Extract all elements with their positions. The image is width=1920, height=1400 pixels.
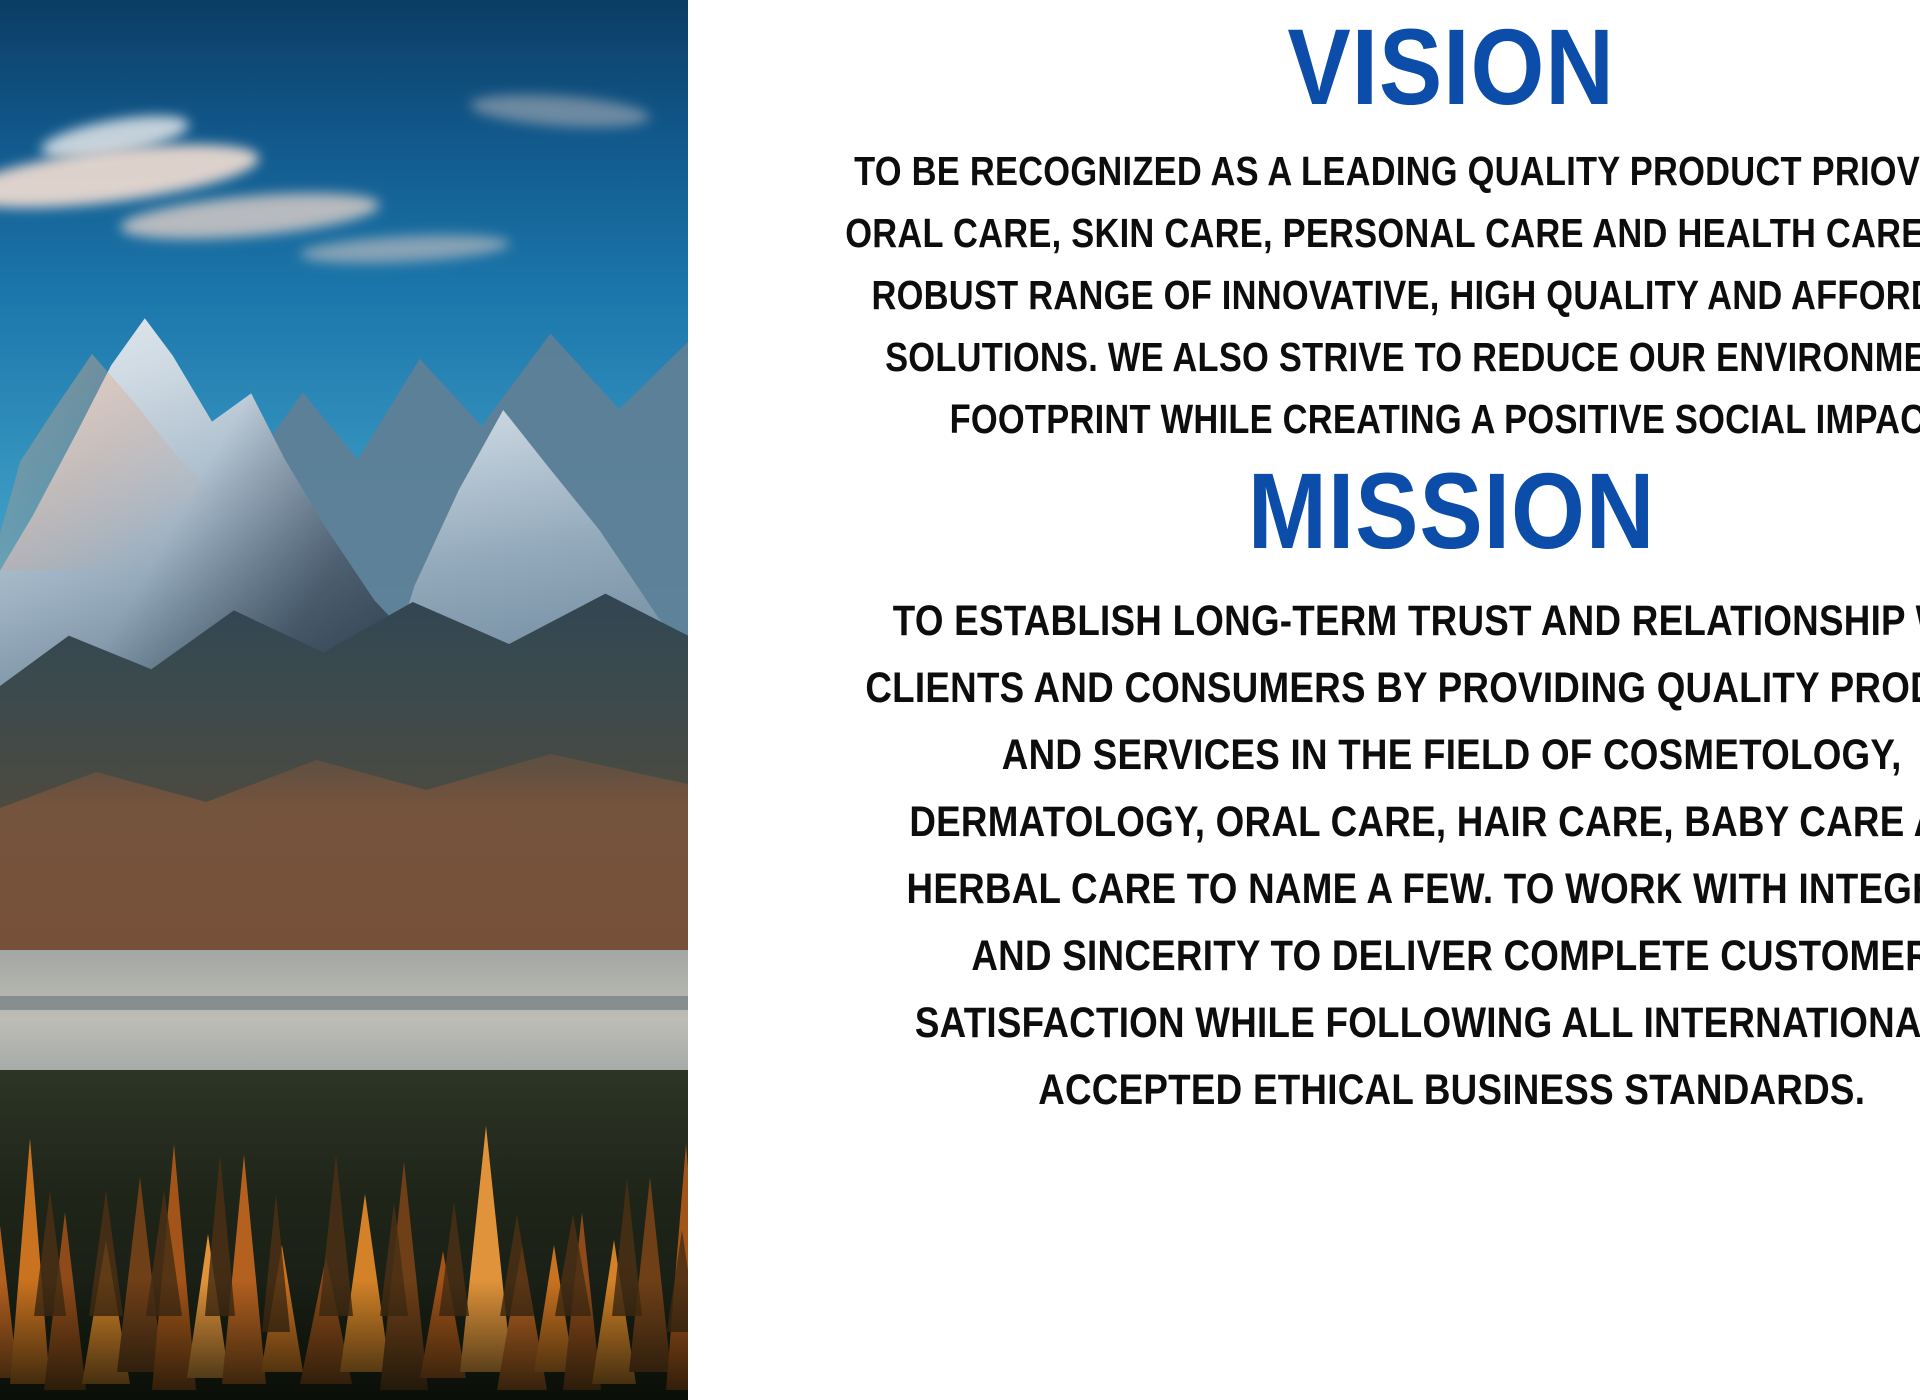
vision-line: ROBUST RANGE OF INNOVATIVE, HIGH QUALITY… xyxy=(736,264,1920,326)
vision-line: ORAL CARE, SKIN CARE, PERSONAL CARE AND … xyxy=(736,202,1920,264)
mission-line: AND SERVICES IN THE FIELD OF COSMETOLOGY… xyxy=(736,722,1920,789)
vision-line: TO BE RECOGNIZED AS A LEADING QUALITY PR… xyxy=(736,140,1920,202)
vision-paragraph: TO BE RECOGNIZED AS A LEADING QUALITY PR… xyxy=(736,140,1920,450)
mission-line: SATISFACTION WHILE FOLLOWING ALL INTERNA… xyxy=(736,990,1920,1057)
vision-line: FOOTPRINT WHILE CREATING A POSITIVE SOCI… xyxy=(736,388,1920,450)
slide-root: VISION TO BE RECOGNIZED AS A LEADING QUA… xyxy=(0,0,1920,1400)
mission-line: AND SINCERITY TO DELIVER COMPLETE CUSTOM… xyxy=(736,923,1920,990)
mission-line: DERMATOLOGY, ORAL CARE, HAIR CARE, BABY … xyxy=(736,789,1920,856)
riverbed-line xyxy=(0,996,688,1010)
mission-line: ACCEPTED ETHICAL BUSINESS STANDARDS. xyxy=(736,1057,1920,1124)
mission-heading: MISSION xyxy=(1248,456,1655,566)
mission-paragraph: TO ESTABLISH LONG-TERM TRUST AND RELATIO… xyxy=(736,588,1920,1124)
mountain-landscape-photo xyxy=(0,0,688,1400)
content-panel: VISION TO BE RECOGNIZED AS A LEADING QUA… xyxy=(688,0,1920,1400)
mission-line: CLIENTS AND CONSUMERS BY PROVIDING QUALI… xyxy=(736,655,1920,722)
mission-line: HERBAL CARE TO NAME A FEW. TO WORK WITH … xyxy=(736,856,1920,923)
vision-heading: VISION xyxy=(1288,12,1615,122)
vision-line: SOLUTIONS. WE ALSO STRIVE TO REDUCE OUR … xyxy=(736,326,1920,388)
bottom-shadow xyxy=(0,1280,688,1400)
mission-line: TO ESTABLISH LONG-TERM TRUST AND RELATIO… xyxy=(736,588,1920,655)
